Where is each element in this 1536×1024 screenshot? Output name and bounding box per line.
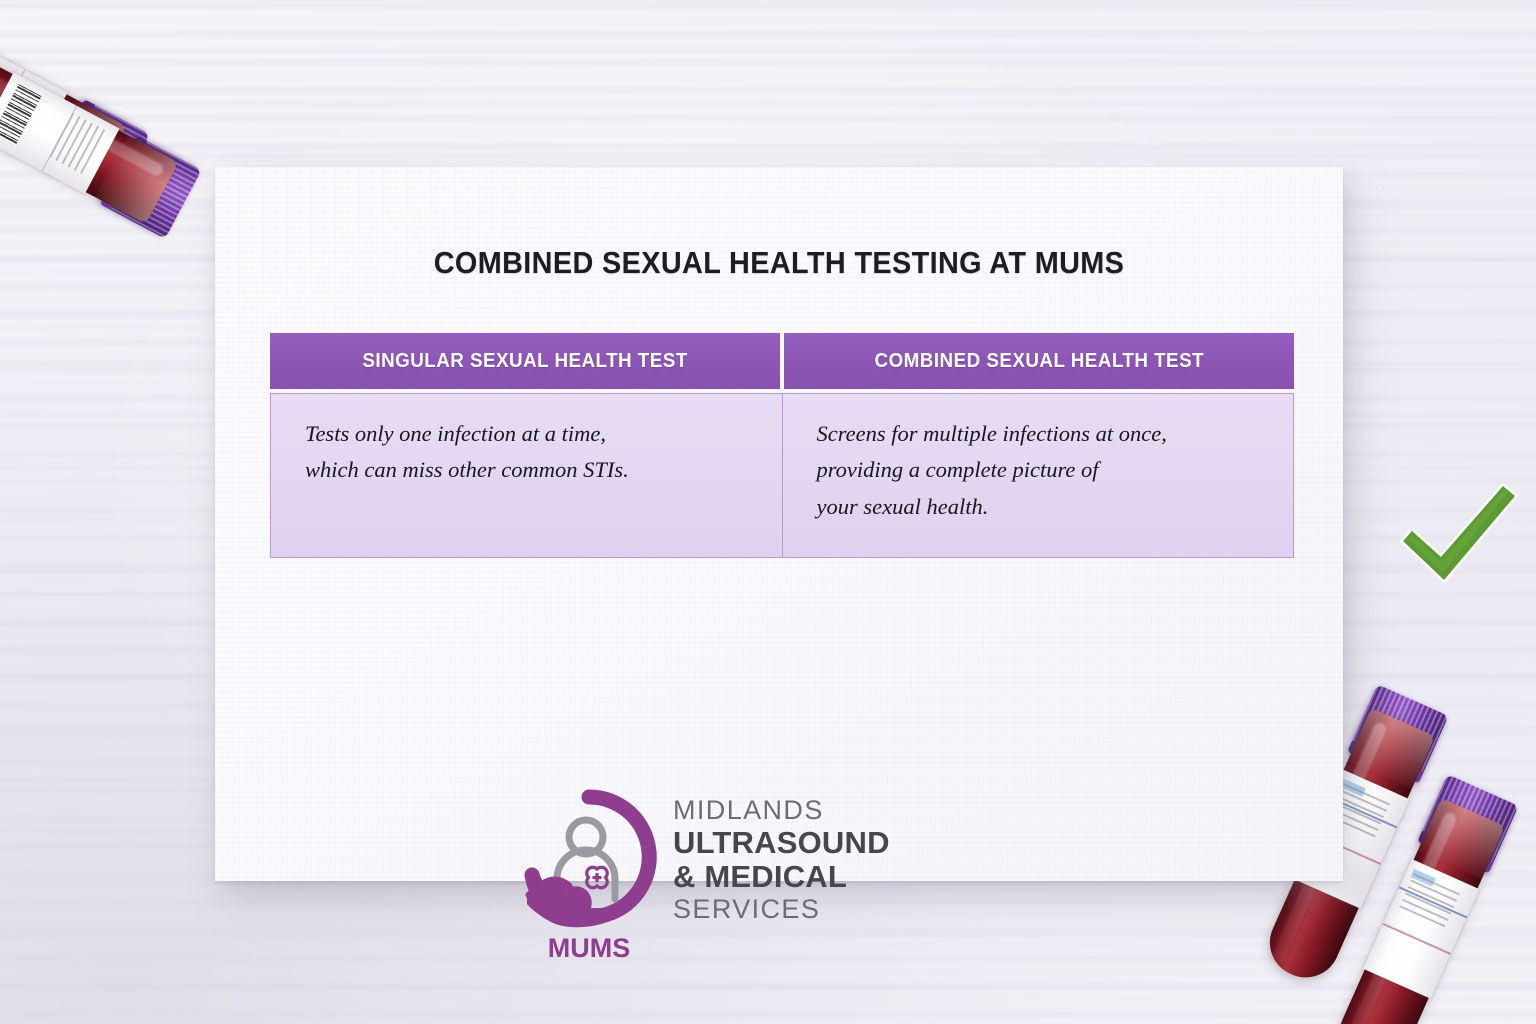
mums-logo: MUMS MIDLANDS ULTRASOUND & MEDICAL SERVI… [513, 787, 933, 962]
table-cell-combined-line-1: Screens for multiple infections at once, [817, 416, 1264, 452]
printed-poster-sheet: COMBINED SEXUAL HEALTH TESTING AT MUMS S… [215, 167, 1343, 881]
table-cell-singular-line-2: which can miss other common STIs. [305, 452, 752, 488]
barcode-icon [0, 84, 42, 146]
table-header-singular: SINGULAR SEXUAL HEALTH TEST [270, 333, 780, 389]
table-cell-singular: Tests only one infection at a time, whic… [270, 393, 782, 558]
table-header-row: SINGULAR SEXUAL HEALTH TEST COMBINED SEX… [270, 333, 1294, 389]
table-cell-combined-line-2: providing a complete picture of [817, 452, 1264, 488]
logo-line-medical: & MEDICAL [673, 861, 933, 892]
table-cell-combined-line-3: your sexual health. [817, 489, 1264, 525]
photo-scene: COMBINED SEXUAL HEALTH TESTING AT MUMS S… [0, 0, 1536, 1024]
table-cell-combined: Screens for multiple infections at once,… [782, 393, 1295, 558]
logo-wordmark: MIDLANDS ULTRASOUND & MEDICAL SERVICES [673, 797, 933, 923]
page-title: COMBINED SEXUAL HEALTH TESTING AT MUMS [254, 245, 1303, 281]
table-header-combined: COMBINED SEXUAL HEALTH TEST [784, 333, 1294, 389]
logo-line-ultrasound: ULTRASOUND [673, 827, 933, 858]
table-header-combined-label: COMBINED SEXUAL HEALTH TEST [874, 333, 1204, 389]
comparison-table: SINGULAR SEXUAL HEALTH TEST COMBINED SEX… [270, 333, 1294, 558]
logo-mums-caption: MUMS [548, 933, 631, 962]
logo-line-midlands: MIDLANDS [673, 797, 933, 824]
mums-circle-hand-figure-logo: MUMS [513, 787, 665, 962]
table-cell-singular-line-1: Tests only one infection at a time, [305, 416, 752, 452]
table-header-singular-label: SINGULAR SEXUAL HEALTH TEST [362, 333, 687, 389]
logo-line-services: SERVICES [673, 896, 933, 923]
table-body-row: Tests only one infection at a time, whic… [270, 393, 1294, 558]
green-check-icon [1395, 483, 1520, 588]
